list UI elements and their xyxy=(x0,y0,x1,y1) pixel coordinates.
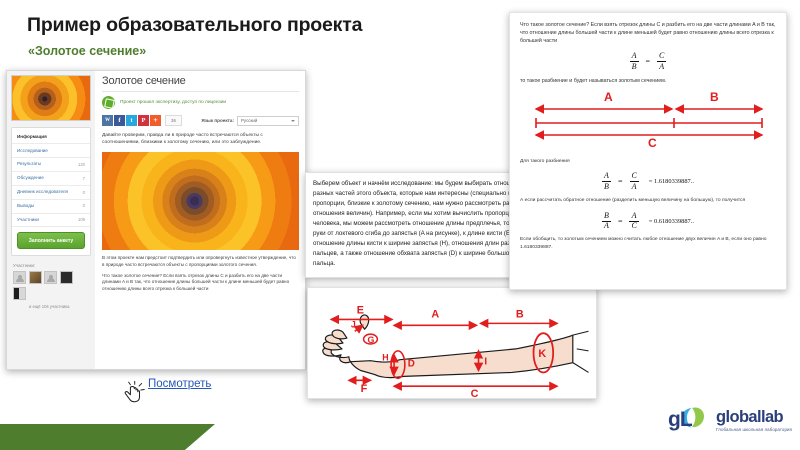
numerator: A xyxy=(630,52,639,61)
participants-more-label: и ещё 104 участника xyxy=(29,304,91,309)
sidebar-item-discussion[interactable]: Обсуждение 7 xyxy=(12,172,90,186)
arm-label-D: D xyxy=(408,359,415,370)
segment-label-B: B xyxy=(710,91,719,104)
explanation-text: Выберем объект и начнём исследование: мы… xyxy=(313,179,537,269)
fill-survey-button[interactable]: Заполнить анкету xyxy=(17,232,85,249)
project-paragraph-2: Что такое золотое сечение? Если взять от… xyxy=(102,273,299,294)
vk-share-icon[interactable]: W xyxy=(102,115,113,126)
pinterest-share-icon[interactable]: P xyxy=(138,115,149,126)
denominator: A xyxy=(602,221,611,231)
formula-3-value: = 0.6180339887.. xyxy=(649,218,694,225)
segment-label-A: A xyxy=(604,91,613,104)
green-accent-band xyxy=(0,424,215,450)
sidebar-item-research-diary[interactable]: Дневник исследователя 0 xyxy=(12,186,90,200)
participants-caption: Участники: xyxy=(13,263,91,268)
project-sidebar: Информация Исследование Результаты 120 О… xyxy=(7,71,95,369)
nautilus-shell-image xyxy=(102,152,299,250)
avatar[interactable] xyxy=(29,271,42,284)
sidebar-item-research[interactable]: Исследование xyxy=(12,144,90,158)
arm-label-K: K xyxy=(538,348,546,360)
denominator: C xyxy=(629,221,638,231)
sidebar-item-label: Дневник исследователя xyxy=(17,189,68,195)
more-share-icon[interactable]: + xyxy=(150,115,161,126)
equals-sign: = xyxy=(618,177,623,186)
math-after-formula-1: то такое разбиение и будет называться зо… xyxy=(520,77,776,85)
fraction-b-over-a: B A xyxy=(602,212,611,231)
golden-ratio-segment-diagram: A B C xyxy=(520,91,778,149)
page-subtitle: «Золотое сечение» xyxy=(28,44,146,58)
language-label: Язык проекта: xyxy=(201,118,234,123)
fraction-c-over-a: C A xyxy=(657,52,666,71)
arm-label-H: H xyxy=(382,353,388,363)
formula-2: A B = C A = 1.6180339887.. xyxy=(520,172,776,191)
math-intro-text: Что такое золотое сечение? Если взять от… xyxy=(520,21,776,45)
numerator: C xyxy=(629,172,638,181)
project-content: Золотое сечение Проект прошел экспертизу… xyxy=(95,71,305,369)
view-project-link[interactable]: Посмотреть xyxy=(148,378,211,390)
numerator: B xyxy=(602,212,611,221)
avatar[interactable] xyxy=(60,271,73,284)
math-inverse-text: А если рассчитать обратное отношение (ра… xyxy=(520,197,776,204)
avatar[interactable] xyxy=(44,271,57,284)
arm-label-I: I xyxy=(484,357,487,368)
sidebar-item-label: Обсуждение xyxy=(17,175,44,181)
equals-sign: = xyxy=(618,217,623,226)
formula-1: A B = C A xyxy=(520,52,776,71)
denominator: B xyxy=(630,61,639,71)
arm-label-A: A xyxy=(431,308,439,320)
sidebar-item-conclusions[interactable]: Выводы 0 xyxy=(12,200,90,214)
arm-label-E: E xyxy=(357,305,364,317)
expertise-badge: Проект прошел экспертизу, доступ по лице… xyxy=(102,96,299,109)
arm-label-F: F xyxy=(361,383,368,395)
chevron-down-icon xyxy=(291,120,295,122)
logo-wordmark: globallab xyxy=(716,409,792,426)
logo-tagline: Глобальная школьная лаборатория xyxy=(716,427,792,432)
formula-2-value: = 1.6180339887.. xyxy=(649,178,694,185)
language-selector[interactable]: Язык проекта: Русский xyxy=(201,116,299,126)
sidebar-item-count: 0 xyxy=(83,190,85,195)
sidebar-item-participants[interactable]: Участники 109 xyxy=(12,214,90,228)
numerator: A xyxy=(602,172,611,181)
project-title: Золотое сечение xyxy=(102,75,299,87)
sidebar-item-label: Выводы xyxy=(17,203,34,209)
twitter-share-icon[interactable]: t xyxy=(126,115,137,126)
sidebar-item-count: 109 xyxy=(78,217,85,222)
arm-label-B: B xyxy=(516,308,524,320)
expertise-badge-text: Проект прошел экспертизу, доступ по лице… xyxy=(120,100,226,105)
denominator: A xyxy=(630,181,639,191)
participants-avatars xyxy=(13,271,87,300)
page-title: Пример образовательного проекта xyxy=(27,14,362,37)
sidebar-item-label: Участники xyxy=(17,217,39,223)
denominator: A xyxy=(657,61,666,71)
divider xyxy=(102,91,299,92)
facebook-share-icon[interactable]: f xyxy=(114,115,125,126)
avatar[interactable] xyxy=(13,287,26,300)
sidebar-item-count: 120 xyxy=(78,162,85,167)
sidebar-item-count: 7 xyxy=(83,176,85,181)
fraction-a-over-c: A C xyxy=(629,212,638,231)
fraction-a-over-b: A B xyxy=(602,172,611,191)
gear-check-icon xyxy=(102,96,115,109)
golden-ratio-math-panel: Что такое золотое сечение? Если взять от… xyxy=(509,12,787,290)
pointing-hand-cursor-icon xyxy=(120,380,146,406)
numerator: C xyxy=(657,52,666,61)
arm-label-G: G xyxy=(368,335,375,345)
segment-label-C: C xyxy=(648,136,657,149)
sidebar-item-label: Результаты xyxy=(17,161,41,167)
globallab-logo: gL globallab Глобальная школьная лаборат… xyxy=(668,405,792,432)
fraction-c-over-a: C A xyxy=(629,172,638,191)
share-bar: W f t P + 36 Язык проекта: Русский xyxy=(102,115,299,126)
math-conclusion-text: Если обобщить, то золотым сечением можно… xyxy=(520,236,776,251)
project-intro-text: Давайте проверим, правда ли в природе ча… xyxy=(102,132,299,147)
globallab-globe-icon: gL xyxy=(668,405,712,431)
numerator: A xyxy=(630,212,639,221)
sidebar-item-information[interactable]: Информация xyxy=(12,130,90,144)
arm-proportions-panel: E A B J G H D F I K C xyxy=(307,287,597,399)
project-paragraph-1: В этом проекте нам предстоит подтвердить… xyxy=(102,255,299,269)
project-page-screenshot[interactable]: Информация Исследование Результаты 120 О… xyxy=(6,70,306,370)
sidebar-item-label: Информация xyxy=(17,134,47,140)
math-for-partition-text: Для такого разбиения xyxy=(520,158,776,165)
avatar[interactable] xyxy=(13,271,26,284)
language-select[interactable]: Русский xyxy=(237,116,299,126)
project-thumbnail-image xyxy=(11,75,91,121)
arm-label-C: C xyxy=(471,388,479,398)
equals-sign: = xyxy=(646,57,651,66)
language-value: Русский xyxy=(241,118,257,123)
sidebar-item-label: Исследование xyxy=(17,148,48,154)
slide-canvas: Пример образовательного проекта «Золотое… xyxy=(0,0,800,450)
denominator: B xyxy=(602,181,611,191)
share-count: 36 xyxy=(165,115,182,126)
sidebar-item-results[interactable]: Результаты 120 xyxy=(12,158,90,172)
formula-3: B A = A C = 0.6180339887.. xyxy=(520,212,776,231)
fraction-a-over-b: A B xyxy=(630,52,639,71)
sidebar-item-count: 0 xyxy=(83,203,85,208)
arm-proportions-diagram: E A B J G H D F I K C xyxy=(308,288,596,398)
project-menu: Информация Исследование Результаты 120 О… xyxy=(11,127,91,256)
svg-text:gL: gL xyxy=(668,408,693,431)
arm-label-J: J xyxy=(351,319,356,329)
